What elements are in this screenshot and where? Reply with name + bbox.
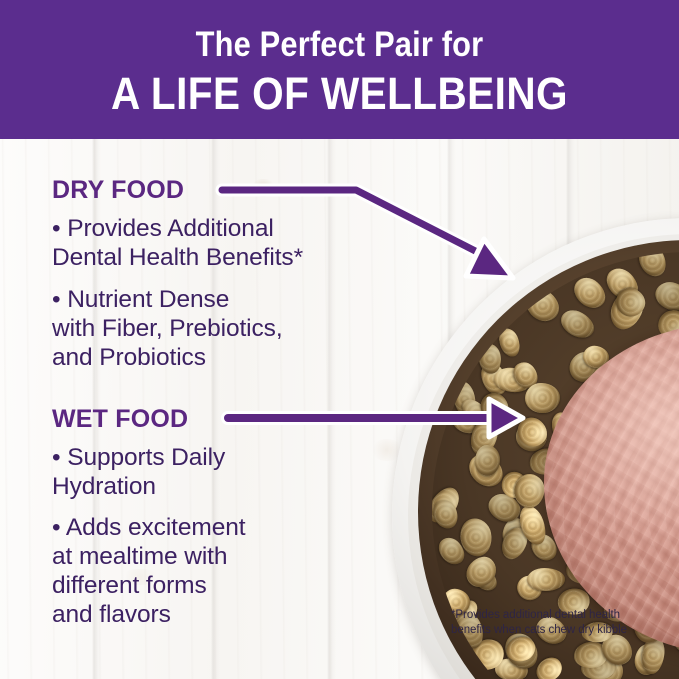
bullet-line: • Provides Additional: [52, 214, 303, 243]
bullet-dot: •: [52, 286, 60, 313]
footnote-line1: *Provides additional dental health: [451, 608, 679, 623]
wet-food-bullet-2: • Adds excitement at mealtime with diffe…: [52, 513, 245, 629]
dry-food-bullet-2: • Nutrient Dense with Fiber, Prebiotics,…: [52, 285, 283, 372]
header-banner: The Perfect Pair for A LIFE OF WELLBEING: [0, 0, 679, 139]
bullet-text: different forms: [52, 572, 207, 599]
banner-title-line1: The Perfect Pair for: [41, 26, 639, 64]
bullet-text: with Fiber, Prebiotics,: [52, 315, 283, 342]
bullet-line: and Probiotics: [52, 343, 283, 372]
bullet-text: Supports Daily: [67, 444, 225, 471]
dry-food-bullet-1: • Provides Additional Dental Health Bene…: [52, 214, 303, 272]
bullet-text: at mealtime with: [52, 543, 227, 570]
bullet-line: Dental Health Benefits*: [52, 243, 303, 272]
bullet-text: and flavors: [52, 601, 171, 628]
bullet-text: Adds excitement: [66, 514, 246, 541]
footnote: *Provides additional dental health benef…: [451, 608, 679, 637]
bullet-text: Provides Additional: [67, 215, 273, 242]
wet-food-heading: WET FOOD: [52, 405, 188, 434]
bullet-dot: •: [52, 514, 60, 541]
bullet-dot: •: [52, 215, 60, 242]
bullet-line: • Adds excitement: [52, 513, 245, 542]
wet-food-section: WET FOOD: [52, 405, 188, 434]
footnote-line2: benefits when cats chew dry kibble: [451, 623, 679, 638]
bullet-text: Dental Health Benefits*: [52, 244, 303, 271]
bullet-line: Hydration: [52, 472, 225, 501]
dry-food-heading: DRY FOOD: [52, 176, 184, 205]
wood-knot-spot: [370, 439, 404, 461]
bullet-dot: •: [52, 444, 60, 471]
dry-food-section: DRY FOOD: [52, 176, 184, 205]
wood-knot-spot: [250, 179, 276, 197]
bullet-line: at mealtime with: [52, 542, 245, 571]
infographic-root: The Perfect Pair for A LIFE OF WELLBEING…: [0, 0, 679, 679]
bullet-text: and Probiotics: [52, 344, 206, 371]
bullet-text: Hydration: [52, 473, 156, 500]
bullet-line: • Supports Daily: [52, 443, 225, 472]
bullet-line: with Fiber, Prebiotics,: [52, 314, 283, 343]
bullet-line: different forms: [52, 571, 245, 600]
bullet-line: • Nutrient Dense: [52, 285, 283, 314]
banner-title-line2: A LIFE OF WELLBEING: [34, 70, 645, 118]
wet-food-bullet-1: • Supports Daily Hydration: [52, 443, 225, 501]
bullet-text: Nutrient Dense: [67, 286, 229, 313]
bullet-line: and flavors: [52, 600, 245, 629]
